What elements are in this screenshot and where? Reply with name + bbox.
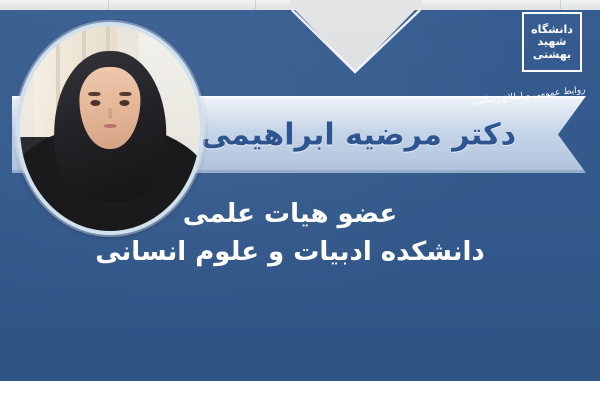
photo-mouth [103,124,116,128]
subtitle-block: عضو هیات علمی دانشکده ادبیات و علوم انسا… [0,196,580,271]
faculty-profile-card: دکتر مرضیه ابراهیمی عضو هیات [0,0,600,400]
university-seal-icon: دانشگاه شهید بهشتی [522,12,582,72]
seal-line-2: شهید [538,36,567,48]
seal-text: دانشگاه شهید بهشتی [527,17,577,67]
photo-eye [90,100,100,106]
photo-nose [109,108,113,119]
faculty-name: دکتر مرضیه ابراهیمی [201,117,516,152]
strip-tick [255,0,256,10]
strip-tick [560,0,561,10]
strip-tick [108,0,109,10]
photo-eyebrow [89,92,101,95]
seal-line-3: بهشتی [533,49,571,61]
faculty-department: دانشکده ادبیات و علوم انسانی [0,234,580,272]
bottom-white-band [0,381,600,400]
faculty-role: عضو هیات علمی [0,196,580,234]
photo-eyebrow [119,92,131,95]
seal-line-1: دانشگاه [531,24,573,36]
university-logo: دانشگاه شهید بهشتی روابط عمومی و اطلاع ر… [490,12,586,96]
photo-eye [120,100,130,106]
